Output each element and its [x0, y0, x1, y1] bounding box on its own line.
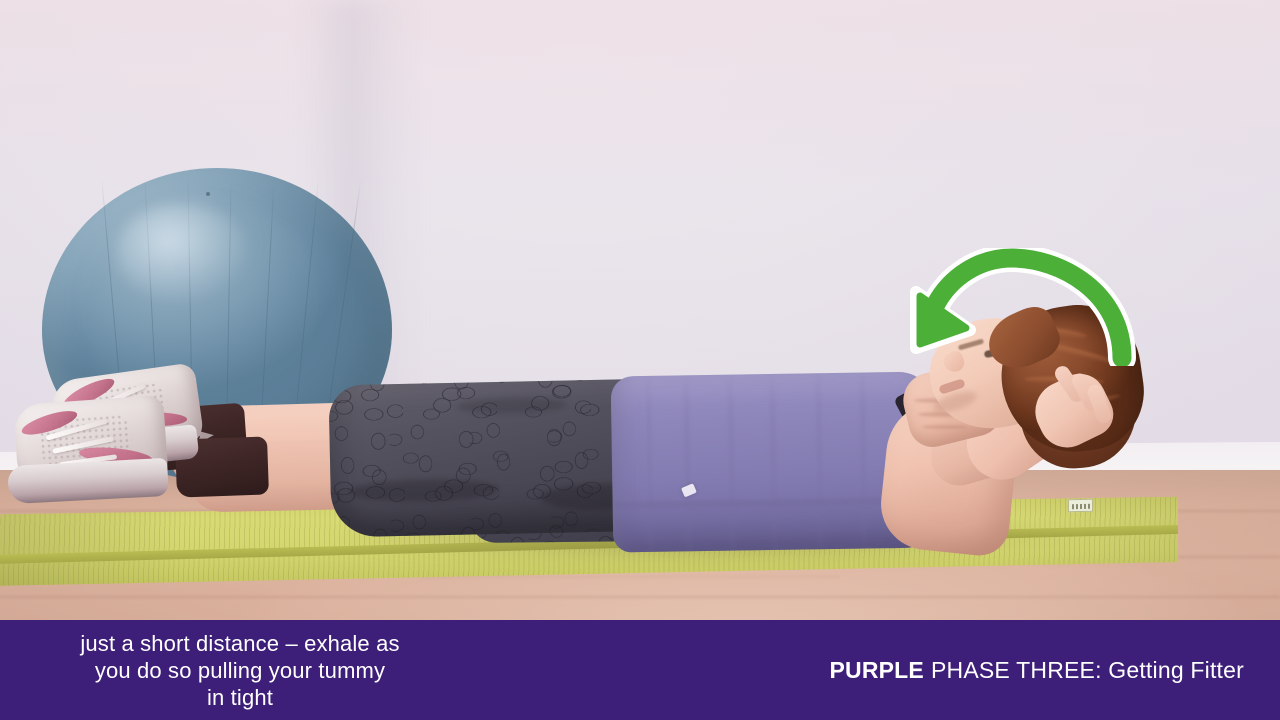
caption-line-1: just a short distance – exhale as — [80, 630, 399, 657]
phase-title: PHASE THREE: Getting Fitter — [931, 657, 1244, 684]
phase-brand: PURPLE — [829, 657, 924, 684]
caption-bar: just a short distance – exhale as you do… — [0, 620, 1280, 720]
fabric-fold — [685, 371, 691, 552]
fabric-fold — [860, 371, 866, 552]
caption-text: just a short distance – exhale as you do… — [40, 620, 440, 720]
fabric-fold — [816, 371, 822, 552]
shoe-sole-left — [7, 458, 169, 504]
fabric-fold — [728, 371, 734, 552]
curved-arrow-icon — [908, 248, 1140, 366]
tank-tag — [681, 483, 697, 497]
caption-line-2: you do so pulling your tummy — [95, 657, 385, 684]
video-frame: just a short distance – exhale as you do… — [0, 0, 1280, 720]
fabric-fold — [770, 371, 776, 552]
neck-crease — [922, 425, 968, 429]
caption-line-3: in tight — [207, 684, 273, 711]
phase-label: PURPLE PHASE THREE: Getting Fitter — [829, 620, 1244, 720]
fabric-fold — [647, 371, 653, 552]
